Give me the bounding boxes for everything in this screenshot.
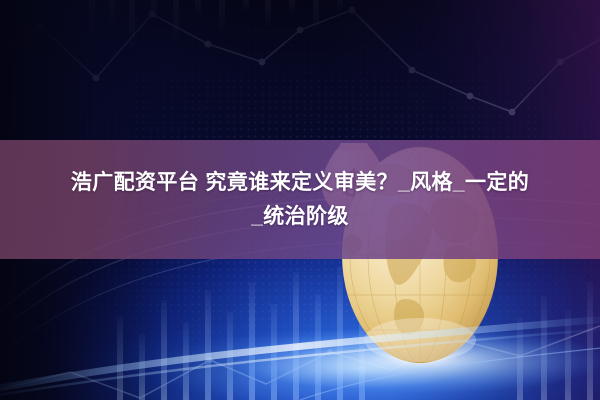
title-line-2: _统治阶级: [251, 200, 349, 234]
title-overlay-band: 浩广配资平台 究竟谁来定义审美？_风格_一定的 _统治阶级: [0, 140, 600, 259]
title-line-1: 浩广配资平台 究竟谁来定义审美？_风格_一定的: [71, 166, 529, 200]
banner-image: $ $: [0, 0, 600, 400]
